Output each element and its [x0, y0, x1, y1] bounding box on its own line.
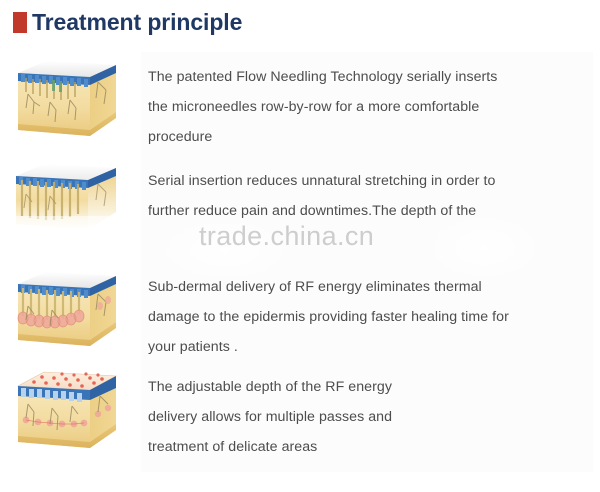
section-1-paragraph: The patented Flow Needling Technology se… [148, 56, 588, 152]
section-4-paragraph: The adjustable depth of the RF energy de… [148, 366, 588, 462]
treatment-principle-page: Treatment principle [0, 0, 600, 492]
section-2-paragraph: Serial insertion reduces unnatural stret… [148, 160, 588, 226]
page-title-row: Treatment principle [0, 0, 600, 44]
section-1-line-3: procedure [148, 122, 588, 152]
skin-block-rf-thermal-zones-icon [12, 266, 124, 354]
section-3-line-1: Sub-dermal delivery of RF energy elimina… [148, 272, 588, 302]
section-2-line-2: further reduce pain and downtimes.The de… [148, 196, 588, 226]
skin-block-adjustable-depth-icon [12, 366, 124, 458]
skin-block-flow-needling-icon [12, 56, 124, 144]
section-1-line-1: The patented Flow Needling Technology se… [148, 62, 588, 92]
section-row-1: The patented Flow Needling Technology se… [0, 56, 600, 152]
section-3-line-2: damage to the epidermis providing faster… [148, 302, 588, 332]
section-2-line-1: Serial insertion reduces unnatural stret… [148, 166, 588, 196]
page-title: Treatment principle [32, 11, 242, 34]
section-4-line-3: treatment of delicate areas [148, 432, 588, 462]
section-4-line-1: The adjustable depth of the RF energy [148, 372, 588, 402]
skin-block-adjustable-depth-figure [12, 366, 134, 458]
section-row-3: Sub-dermal delivery of RF energy elimina… [0, 266, 600, 362]
title-marker-icon [13, 12, 27, 33]
section-row-2: Serial insertion reduces unnatural stret… [0, 160, 600, 248]
section-1-line-2: the microneedles row-by-row for a more c… [148, 92, 588, 122]
section-4-line-2: delivery allows for multiple passes and [148, 402, 588, 432]
section-3-paragraph: Sub-dermal delivery of RF energy elimina… [148, 266, 588, 362]
skin-block-flow-needling-figure [12, 56, 134, 144]
skin-block-serial-insertion-icon [12, 160, 124, 248]
skin-block-serial-insertion-figure [12, 160, 134, 248]
skin-block-rf-thermal-zones-figure [12, 266, 134, 354]
section-3-line-3: your patients . [148, 332, 588, 362]
section-row-4: The adjustable depth of the RF energy de… [0, 366, 600, 462]
